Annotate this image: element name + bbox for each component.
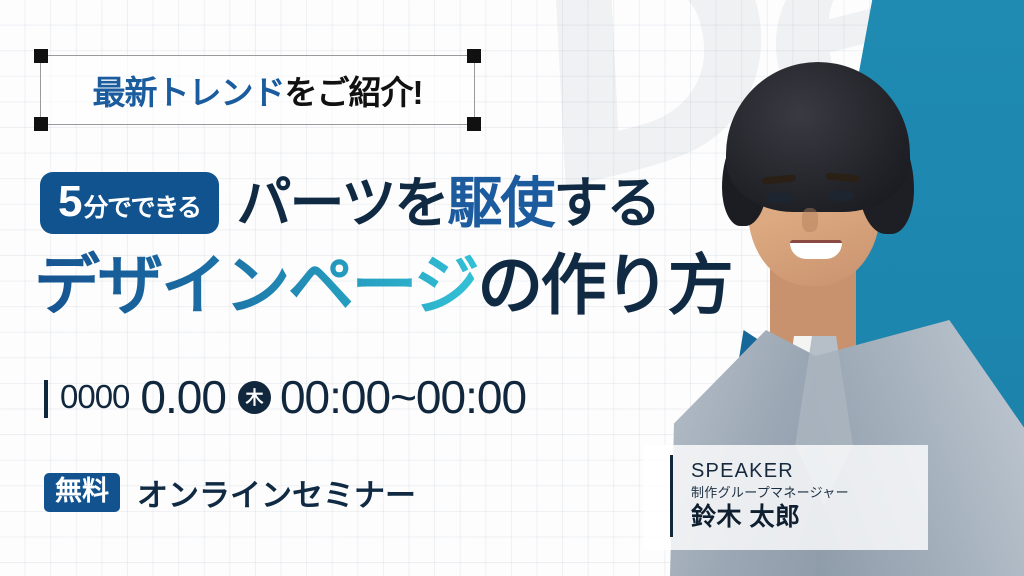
speaker-credit-panel: SPEAKER 制作グループマネージャー 鈴木 太郎 — [643, 445, 928, 550]
schedule-date: 0.00 — [140, 370, 226, 424]
headline-row-2: デザインページの作り方 — [34, 252, 731, 318]
format-label: オンラインセミナー — [137, 470, 416, 515]
headline-line1-part-b: 駆使 — [447, 172, 553, 234]
kicker-text: 最新トレンドをご紹介! — [41, 56, 474, 124]
speaker-name: 鈴木 太郎 — [691, 503, 849, 532]
schedule-year: 0000 — [60, 378, 129, 416]
duration-number: 5 — [58, 180, 81, 224]
headline-row-1: 5 分でできる パーツを駆使する — [40, 172, 659, 234]
headline-line1-part-c: する — [553, 172, 659, 234]
schedule-row: 0000 0.00 木 00:00~00:00 — [44, 370, 526, 424]
headline-line-1: パーツを駆使する — [237, 176, 660, 231]
schedule-time-range: 00:00~00:00 — [280, 370, 526, 424]
kicker-highlight: 最新トレンド — [93, 66, 285, 114]
price-badge: 無料 — [44, 473, 120, 512]
info-row: 無料 オンラインセミナー — [44, 470, 416, 515]
seminar-banner: Design 最新トレンドをご紹介! 5 分でできる — [0, 0, 1024, 576]
speaker-role: 制作グループマネージャー — [691, 485, 849, 501]
headline-line1-part-a: パーツを — [237, 172, 448, 234]
kicker-rest: をご紹介! — [285, 66, 423, 114]
schedule-divider-bar — [44, 380, 48, 418]
speaker-credit-inner: SPEAKER 制作グループマネージャー 鈴木 太郎 — [670, 455, 849, 537]
duration-suffix: 分でできる — [83, 196, 200, 221]
kicker-box: 最新トレンドをご紹介! — [40, 55, 475, 125]
speaker-label: SPEAKER — [691, 460, 849, 483]
duration-badge: 5 分でできる — [40, 172, 219, 234]
photo-mouth — [790, 240, 842, 259]
headline-line2-rest: の作り方 — [477, 248, 731, 322]
photo-eye-right — [828, 190, 854, 201]
headline-line2-gradient: デザインページ — [34, 248, 477, 322]
photo-hair-top — [726, 62, 910, 212]
photo-eye-left — [766, 192, 792, 203]
schedule-weekday-badge: 木 — [238, 381, 271, 414]
photo-nose — [802, 208, 818, 232]
